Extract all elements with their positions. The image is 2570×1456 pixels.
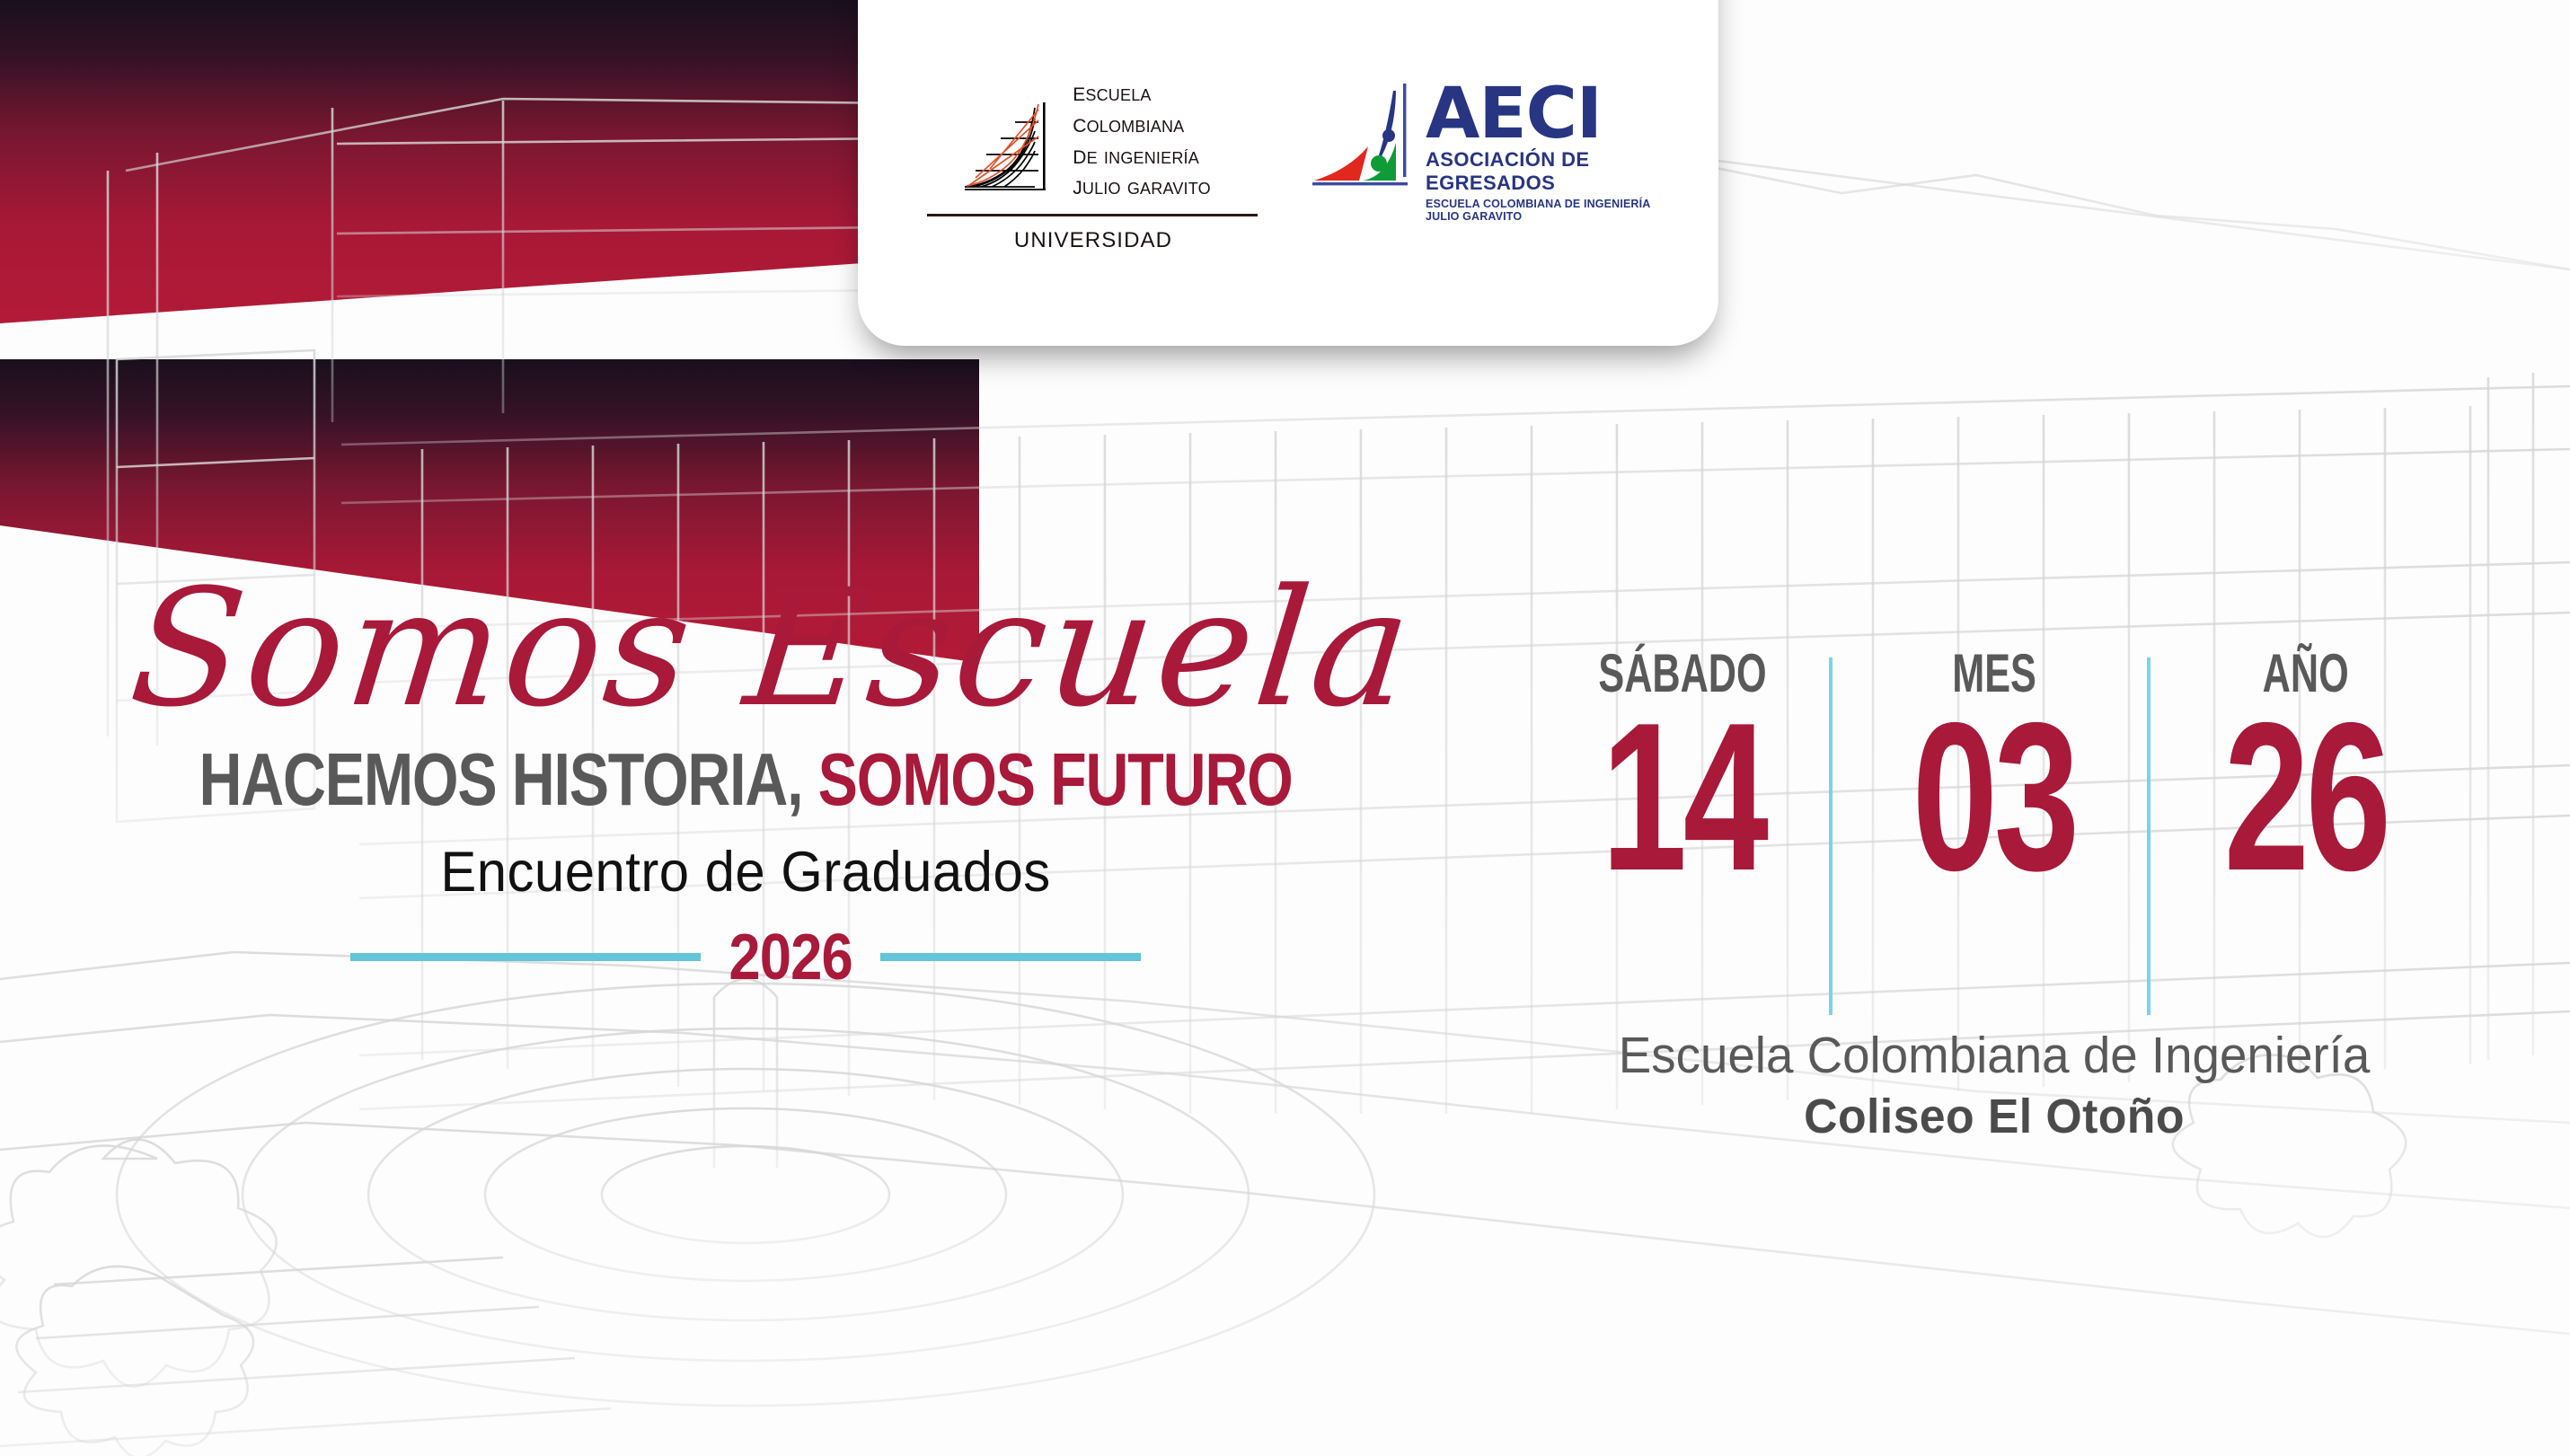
escuela-line-2: Colombiana [1073, 108, 1211, 139]
aeci-subtitle: ASOCIACIÓN DE EGRESADOS [1426, 148, 1666, 195]
year-rule-right [880, 953, 1141, 961]
date-divider-2 [2147, 657, 2150, 1015]
aeci-figures-mark-icon [1307, 80, 1417, 199]
script-title: Somos Escuela [46, 575, 1498, 724]
venue-place: Coliseo El Otoño [1546, 1089, 2442, 1144]
date-columns: SÁBADO 14 MES 03 AÑO 26 [1527, 647, 2461, 1015]
year-rule-left [350, 953, 701, 961]
date-column-year: AÑO 26 [2150, 647, 2461, 890]
venue-institution: Escuela Colombiana de Ingeniería [1546, 1026, 2442, 1085]
escuela-line-3: de Ingeniería [1073, 139, 1211, 171]
headline: HACEMOS HISTORIA, SOMOS FUTURO [149, 742, 1342, 816]
aeci-acronym: AECI [1426, 84, 1666, 146]
hero-text-block: Somos Escuela HACEMOS HISTORIA, SOMOS FU… [0, 575, 1491, 994]
date-value-day: 14 [1601, 704, 1764, 890]
escuela-line-4: Julio Garavito [1073, 170, 1211, 201]
escuela-logo: Escuela Colombiana de Ingeniería Julio G… [910, 76, 1260, 253]
event-date-block: SÁBADO 14 MES 03 AÑO 26 Escuela Colombia… [1527, 647, 2461, 1144]
logo-card: Escuela Colombiana de Ingeniería Julio G… [858, 0, 1718, 346]
poster-canvas: Escuela Colombiana de Ingeniería Julio G… [0, 0, 2570, 1456]
escuela-tagline: UNIVERSIDAD [1014, 228, 1172, 253]
date-column-month: MES 03 [1839, 647, 2150, 890]
headline-gray: HACEMOS HISTORIA, [199, 737, 802, 821]
date-column-day: SÁBADO 14 [1527, 647, 1839, 890]
escuela-wordmark: Escuela Colombiana de Ingeniería Julio G… [1073, 76, 1211, 201]
subheadline: Encuentro de Graduados [38, 840, 1454, 904]
headline-red: SOMOS FUTURO [818, 737, 1293, 821]
aeci-logo: AECI ASOCIACIÓN DE EGRESADOS ESCUELA COL… [1307, 76, 1666, 223]
banner-left [0, 0, 966, 359]
date-divider-1 [1829, 657, 1833, 1015]
year-label: 2026 [711, 921, 870, 994]
date-value-year: 26 [2224, 704, 2388, 890]
date-value-month: 03 [1912, 704, 2076, 890]
aeci-institution: ESCUELA COLOMBIANA DE INGENIERÍA JULIO G… [1426, 198, 1666, 223]
year-row: 2026 [0, 921, 1491, 994]
escuela-line-1: Escuela [1073, 76, 1211, 108]
escuela-divider [927, 214, 1258, 216]
escuela-curve-mark-icon [959, 101, 1060, 201]
venue-block: Escuela Colombiana de Ingeniería Coliseo… [1527, 1026, 2461, 1144]
